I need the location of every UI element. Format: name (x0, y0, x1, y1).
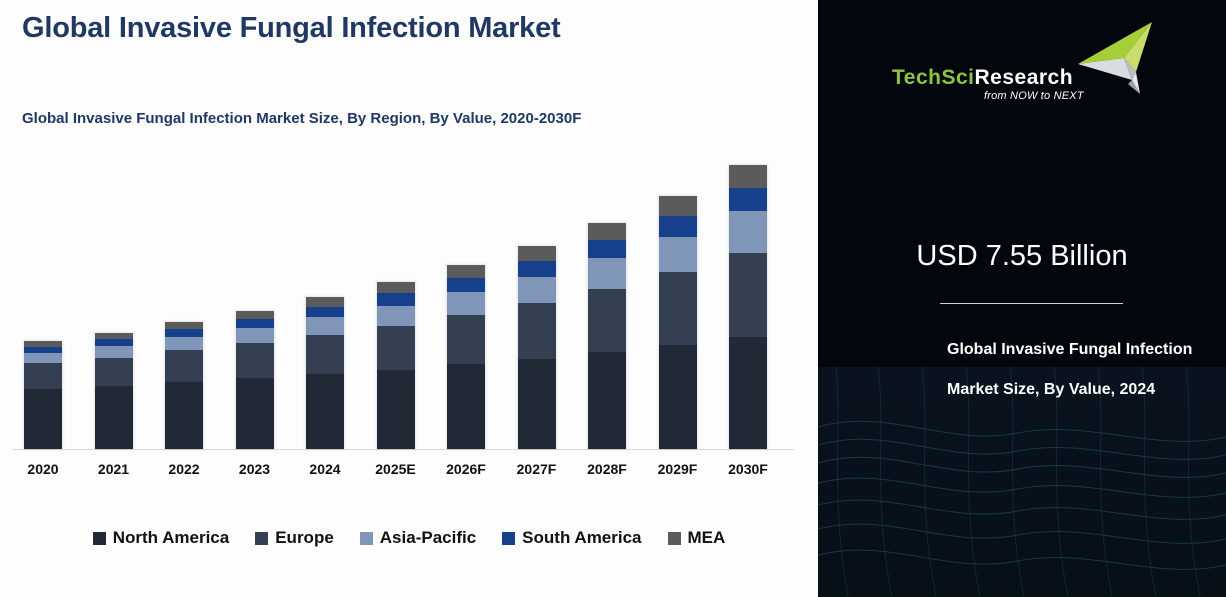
bar-segment-mea-2028F (588, 223, 626, 240)
bar-segment-south-america-2026F (447, 278, 485, 292)
bar-segment-europe-2023 (236, 343, 274, 378)
bar-2030F (729, 165, 767, 449)
bar-segment-mea-2025E (377, 282, 415, 293)
legend-label: MEA (688, 528, 726, 548)
bar-segment-asia-pacific-2023 (236, 328, 274, 343)
bar-segment-south-america-2029F (659, 216, 697, 237)
legend-item-south-america[interactable]: South America (502, 528, 641, 548)
chart-legend: North AmericaEuropeAsia-PacificSouth Ame… (0, 528, 818, 548)
bar-segment-asia-pacific-2021 (95, 346, 133, 358)
bar-2022 (165, 322, 203, 449)
legend-label: Europe (275, 528, 334, 548)
bar-segment-asia-pacific-2025E (377, 306, 415, 327)
bar-segment-mea-2024 (306, 297, 344, 306)
bar-segment-mea-2023 (236, 311, 274, 319)
legend-swatch-icon (668, 532, 681, 545)
bar-2021 (95, 333, 133, 449)
x-axis-label-2027F: 2027F (502, 461, 572, 477)
bar-2020 (24, 341, 62, 449)
bar-segment-north-america-2028F (588, 352, 626, 449)
stat-divider (940, 303, 1123, 304)
x-axis-label-2020: 2020 (8, 461, 78, 477)
legend-label: North America (113, 528, 230, 548)
bar-segment-north-america-2020 (24, 389, 62, 449)
brand-stat-panel: TechSciResearch from NOW to NEXT USD 7.5… (818, 0, 1226, 597)
x-axis-label-2022: 2022 (149, 461, 219, 477)
bar-segment-europe-2025E (377, 326, 415, 370)
bar-segment-europe-2030F (729, 253, 767, 336)
bar-segment-north-america-2029F (659, 345, 697, 449)
bar-segment-south-america-2024 (306, 307, 344, 318)
chart-panel: Global Invasive Fungal Infection Market … (0, 0, 818, 597)
bar-segment-mea-2026F (447, 265, 485, 278)
bar-segment-south-america-2020 (24, 347, 62, 354)
bar-segment-south-america-2027F (518, 261, 556, 277)
bar-segment-asia-pacific-2022 (165, 337, 203, 350)
bar-segment-north-america-2030F (729, 337, 767, 450)
x-axis-label-2026F: 2026F (431, 461, 501, 477)
bar-segment-north-america-2026F (447, 364, 485, 449)
bar-2027F (518, 246, 556, 449)
x-axis-label-2028F: 2028F (572, 461, 642, 477)
x-axis-label-2030F: 2030F (713, 461, 783, 477)
x-axis-label-2021: 2021 (79, 461, 149, 477)
bar-2025E (377, 282, 415, 449)
legend-item-north-america[interactable]: North America (93, 528, 230, 548)
bar-segment-mea-2022 (165, 322, 203, 329)
page-title: Global Invasive Fungal Infection Market (22, 12, 561, 45)
bar-2024 (306, 297, 344, 449)
x-axis-label-2023: 2023 (220, 461, 290, 477)
bar-segment-south-america-2030F (729, 188, 767, 212)
bar-segment-europe-2022 (165, 350, 203, 381)
chart-title: Global Invasive Fungal Infection Market … (22, 110, 581, 127)
legend-swatch-icon (360, 532, 373, 545)
bar-segment-asia-pacific-2020 (24, 353, 62, 363)
x-axis-label-2024: 2024 (290, 461, 360, 477)
bar-segment-europe-2020 (24, 363, 62, 388)
stat-value: USD 7.55 Billion (818, 240, 1226, 273)
legend-label: South America (522, 528, 641, 548)
legend-item-asia-pacific[interactable]: Asia-Pacific (360, 528, 476, 548)
bar-segment-south-america-2025E (377, 293, 415, 306)
bar-segment-europe-2029F (659, 272, 697, 345)
bar-segment-europe-2027F (518, 303, 556, 359)
bar-segment-north-america-2022 (165, 382, 203, 449)
stacked-bar-chart-plot (12, 150, 794, 450)
legend-item-mea[interactable]: MEA (668, 528, 726, 548)
stat-caption: Global Invasive Fungal Infection Market … (947, 330, 1197, 410)
bar-2026F (447, 265, 485, 449)
legend-swatch-icon (502, 532, 515, 545)
bar-segment-asia-pacific-2029F (659, 237, 697, 273)
bar-2029F (659, 196, 697, 449)
bar-segment-south-america-2022 (165, 329, 203, 337)
bar-segment-asia-pacific-2027F (518, 277, 556, 304)
techsci-research-logo: TechSciResearch from NOW to NEXT (818, 18, 1226, 110)
bar-segment-asia-pacific-2026F (447, 292, 485, 315)
legend-swatch-icon (93, 532, 106, 545)
bar-segment-north-america-2023 (236, 378, 274, 449)
x-axis-label-2029F: 2029F (643, 461, 713, 477)
bar-segment-europe-2021 (95, 358, 133, 386)
bar-segment-asia-pacific-2024 (306, 317, 344, 334)
infographic-root: Global Invasive Fungal Infection Market … (0, 0, 1226, 597)
bar-segment-europe-2024 (306, 335, 344, 374)
x-axis-label-2025E: 2025E (361, 461, 431, 477)
bar-segment-europe-2028F (588, 289, 626, 352)
bar-segment-asia-pacific-2028F (588, 258, 626, 289)
logo-brand-primary: TechSci (892, 66, 974, 89)
bar-segment-north-america-2025E (377, 370, 415, 449)
bar-2023 (236, 311, 274, 449)
logo-tagline: from NOW to NEXT (984, 90, 1084, 102)
bar-segment-north-america-2027F (518, 359, 556, 449)
bar-segment-asia-pacific-2030F (729, 211, 767, 253)
legend-label: Asia-Pacific (380, 528, 476, 548)
logo-brand-secondary: Research (974, 66, 1073, 89)
bar-segment-south-america-2023 (236, 319, 274, 329)
bar-segment-north-america-2024 (306, 374, 344, 449)
bar-segment-south-america-2021 (95, 339, 133, 346)
x-axis-tick-labels: 202020212022202320242025E2026F2027F2028F… (12, 461, 794, 483)
bar-2028F (588, 223, 626, 449)
legend-swatch-icon (255, 532, 268, 545)
bar-segment-europe-2026F (447, 315, 485, 365)
bar-segment-north-america-2021 (95, 386, 133, 449)
legend-item-europe[interactable]: Europe (255, 528, 334, 548)
x-axis-line (12, 449, 794, 450)
bar-segment-mea-2029F (659, 196, 697, 216)
bar-segment-south-america-2028F (588, 240, 626, 258)
bar-segment-mea-2027F (518, 246, 556, 261)
bar-segment-mea-2030F (729, 165, 767, 188)
